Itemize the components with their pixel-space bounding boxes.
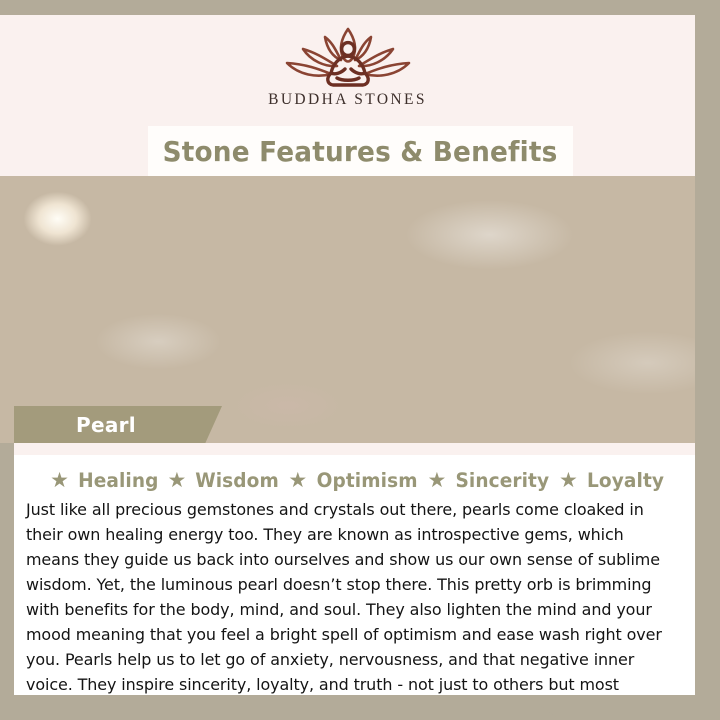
benefit-label: Sincerity [456,469,550,492]
benefits-row: ★ Healing ★ Wisdom ★ Optimism ★ Sincerit… [26,465,683,495]
benefit-label: Wisdom [196,469,280,492]
brand-name: BUDDHA STONES [268,91,427,109]
frame-right-band [695,0,720,720]
frame-left-band [0,443,14,720]
frame-top-band [0,0,720,15]
star-icon: ★ [428,470,447,491]
benefit-wisdom: ★ Wisdom [161,469,282,492]
star-icon: ★ [168,470,187,491]
title-card: Stone Features & Benefits [148,126,573,176]
stone-name: Pearl [76,413,136,437]
stone-name-band: Pearl [14,406,222,443]
star-icon: ★ [50,470,69,491]
pearl-photo-sheen [0,176,720,443]
benefit-healing: ★ Healing [43,469,160,492]
pearl-photo [0,176,720,443]
star-icon: ★ [559,470,578,491]
benefit-loyalty: ★ Loyalty [552,469,666,492]
benefit-sincerity: ★ Sincerity [421,469,552,492]
poster: BUDDHA STONES Stone Features & Benefits … [0,0,720,720]
benefit-optimism: ★ Optimism [281,469,420,492]
page-title: Stone Features & Benefits [163,135,558,168]
gap-strip [0,443,695,455]
lotus-meditation-icon [273,23,423,89]
benefit-label: Loyalty [587,469,664,492]
benefit-label: Optimism [317,469,418,492]
brand-header: BUDDHA STONES [0,15,695,127]
star-icon: ★ [288,470,307,491]
frame-bottom-band [0,695,560,720]
content-card: ★ Healing ★ Wisdom ★ Optimism ★ Sincerit… [14,455,695,695]
description-text: Just like all precious gemstones and cry… [26,497,673,720]
benefit-label: Healing [78,469,158,492]
